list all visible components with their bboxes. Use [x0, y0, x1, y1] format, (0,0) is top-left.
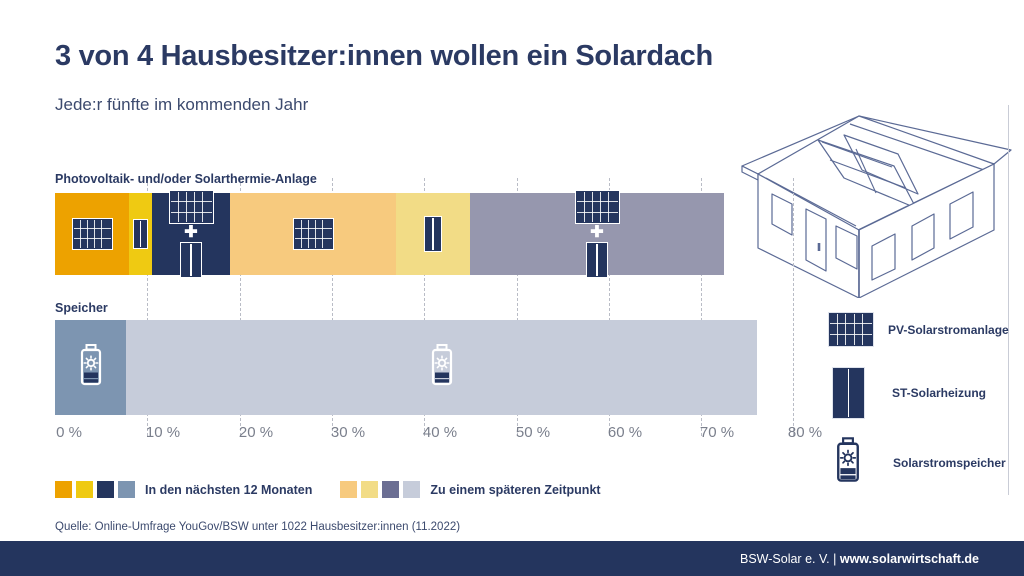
- legend-label-12-months: In den nächsten 12 Monaten: [145, 483, 312, 497]
- bar-group-label-speicher: Speicher: [55, 301, 108, 315]
- legend-group-later: Zu einem späteren Zeitpunkt: [340, 481, 628, 498]
- axis-tick-70: 70 %: [700, 424, 734, 441]
- icon-legend-row-pv: PV-Solarstromanlage: [828, 312, 1009, 347]
- axis-tick-0: 0 %: [56, 424, 82, 441]
- st-collector-icon: [133, 219, 148, 249]
- plus-icon: ✚: [184, 225, 197, 241]
- st-collector-icon: [586, 242, 608, 278]
- legend-swatch: [55, 481, 72, 498]
- footer-text: BSW-Solar e. V. | www.solarwirtschaft.de: [740, 552, 979, 566]
- bar-row-pv: ✚: [55, 193, 724, 275]
- axis-tick-10: 10 %: [146, 424, 180, 441]
- bar-segment-st-12m[interactable]: [129, 193, 152, 275]
- footer-org: BSW-Solar e. V.: [740, 552, 833, 566]
- bar-group-label-pv: Photovoltaik- und/oder Solarthermie-Anla…: [55, 172, 317, 186]
- bar-segment-speicher-later[interactable]: [126, 320, 757, 415]
- axis-tick-80: 80 %: [788, 424, 822, 441]
- battery-icon: [79, 344, 103, 391]
- pv-panel-icon: [828, 312, 874, 347]
- legend-group-12-months: In den nächsten 12 Monaten: [55, 481, 340, 498]
- legend-swatch: [118, 481, 135, 498]
- pv-panel-icon: [293, 218, 334, 250]
- legend-swatch: [97, 481, 114, 498]
- icon-legend-row-st: ST-Solarheizung: [832, 367, 986, 419]
- footer-separator: |: [833, 552, 840, 566]
- axis-tick-40: 40 %: [423, 424, 457, 441]
- bar-segment-st-later[interactable]: [396, 193, 470, 275]
- footer-website[interactable]: www.solarwirtschaft.de: [840, 552, 979, 566]
- legend-swatch: [403, 481, 420, 498]
- axis-tick-30: 30 %: [331, 424, 365, 441]
- bar-segment-pv-later[interactable]: [230, 193, 396, 275]
- pv-panel-icon: [169, 190, 214, 224]
- pv-panel-icon: [575, 190, 620, 224]
- axis-tick-20: 20 %: [239, 424, 273, 441]
- legend-swatch: [382, 481, 399, 498]
- battery-icon: [835, 437, 861, 488]
- gridline-80: [793, 178, 795, 436]
- pv-panel-icon: [72, 218, 113, 250]
- legend-label-later: Zu einem späteren Zeitpunkt: [430, 483, 600, 497]
- icon-legend-label-pv: PV-Solarstromanlage: [888, 323, 1009, 337]
- bar-segment-pv-st-12m[interactable]: ✚: [152, 193, 230, 275]
- icon-legend-row-battery: Solarstromspeicher: [835, 437, 1006, 488]
- st-collector-icon: [832, 367, 865, 419]
- bar-row-speicher: [55, 320, 757, 415]
- axis-tick-60: 60 %: [608, 424, 642, 441]
- st-collector-icon: [424, 216, 442, 252]
- legend-swatch: [340, 481, 357, 498]
- chart-legend: In den nächsten 12 Monaten Zu einem spät…: [55, 481, 629, 498]
- footer-bar: BSW-Solar e. V. | www.solarwirtschaft.de: [0, 541, 1024, 576]
- source-note: Quelle: Online-Umfrage YouGov/BSW unter …: [55, 521, 460, 533]
- legend-swatch: [76, 481, 93, 498]
- battery-icon: [430, 344, 454, 391]
- bar-segment-pv-st-later[interactable]: ✚: [470, 193, 724, 275]
- plus-icon: ✚: [590, 225, 603, 241]
- bar-segment-speicher-12m[interactable]: [55, 320, 126, 415]
- legend-swatch: [361, 481, 378, 498]
- axis-tick-50: 50 %: [516, 424, 550, 441]
- icon-legend-label-battery: Solarstromspeicher: [893, 456, 1006, 470]
- st-collector-icon: [180, 242, 202, 278]
- bar-segment-pv-12m[interactable]: [55, 193, 129, 275]
- icon-legend-label-st: ST-Solarheizung: [892, 386, 986, 400]
